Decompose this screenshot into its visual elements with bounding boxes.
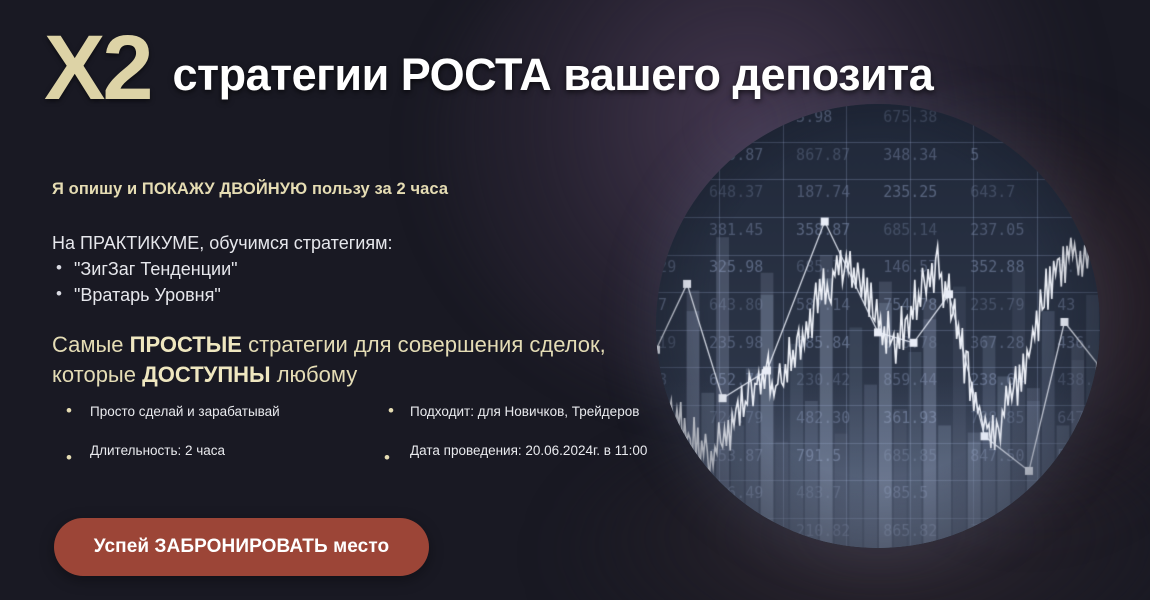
gold-paragraph-bold1: ПРОСТЫЕ [130,332,242,357]
strategy-list: "ЗигЗаг Тенденции" "Вратарь Уровня" [52,259,672,306]
book-place-button[interactable]: Успей ЗАБРОНИРОВАТЬ место [54,518,429,576]
fact-item: Подходит: для Новичков, Трейдеров [380,402,690,421]
copy-column: Я опишу и ПОКАЖУ ДВОЙНУЮ пользу за 2 час… [52,180,672,391]
gold-paragraph-part3: любому [271,362,358,387]
fact-item: Дата проведения: 20.06.2024г. в 11:00 [380,441,690,460]
list-item: "Вратарь Уровня" [52,285,672,306]
kicker-text: Я опишу и ПОКАЖУ ДВОЙНУЮ пользу за 2 час… [52,180,672,199]
multiplier-label: X2 [44,22,151,114]
facts-column-right: Подходит: для Новичков, Трейдеров Дата п… [380,402,690,480]
fact-item: Длительность: 2 часа [52,441,362,460]
facts-column-left: Просто сделай и зарабатывай Длительность… [52,402,362,480]
stock-chart-circle-graphic [656,104,1100,548]
gold-paragraph-bold2: ДОСТУПНЫ [142,362,271,387]
headline-text: стратегии РОСТА вашего депозита [173,52,934,97]
gold-paragraph: Самые ПРОСТЫЕ стратегии для совершения с… [52,330,632,391]
facts-grid: Просто сделай и зарабатывай Длительность… [52,402,692,480]
page-title: X2 стратегии РОСТА вашего депозита [44,22,933,114]
list-item: "ЗигЗаг Тенденции" [52,259,672,280]
stock-chart-canvas [656,104,1100,548]
fact-item: Просто сделай и зарабатывай [52,402,362,421]
lead-text: На ПРАКТИКУМЕ, обучимся стратегиям: [52,233,672,254]
gold-paragraph-part1: Самые [52,332,130,357]
